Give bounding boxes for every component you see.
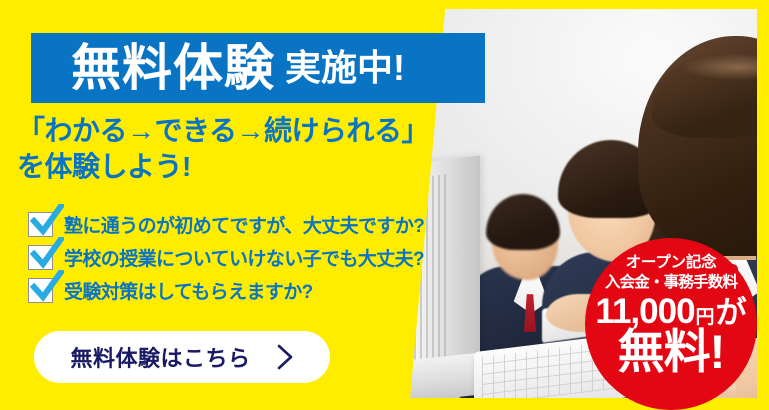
sub-headline: 「わかる→できる→続けられる」 を体験しよう! (17, 113, 437, 185)
badge-yen-unit: 円 (696, 308, 715, 327)
sub-headline-line2: を体験しよう! (17, 149, 437, 185)
sub-headline-line1: 「わかる→できる→続けられる」 (17, 115, 429, 146)
headline-blue-banner-inner: 無料体験 実施中! (31, 33, 485, 103)
check-icon (30, 204, 64, 238)
checklist-item-label: 学校の授業についていけない子でも大丈夫? (64, 244, 424, 271)
check-icon (30, 237, 64, 271)
badge-amount: 11,000 (595, 294, 694, 329)
list-item: 学校の授業についていけない子でも大丈夫? (28, 242, 428, 273)
checklist-item-label: 塾に通うのが初めてですが、大丈夫ですか? (64, 211, 424, 238)
headline-blue-banner: 無料体験 実施中! (31, 33, 485, 103)
badge-particle: が (716, 297, 747, 328)
free-trial-promo-banner: 無料体験 実施中! 「わかる→できる→続けられる」 を体験しよう! 塾に通うのが… (0, 0, 769, 410)
campaign-badge: オープン記念 入会金・事務手数料 11,000 円 が 無料! (585, 238, 757, 410)
checklist-item-label: 受験対策はしてもらえますか? (64, 277, 313, 304)
badge-line-4: 無料! (585, 328, 757, 375)
yellow-right-border (757, 0, 769, 410)
badge-price-row: 11,000 円 が (585, 294, 757, 329)
checkbox-icon (28, 212, 53, 237)
checkbox-icon (28, 245, 53, 270)
checkbox-icon (28, 278, 53, 303)
chevron-right-icon (277, 344, 294, 370)
check-icon (30, 270, 64, 304)
cta-button-label: 無料体験はこちら (70, 341, 250, 373)
list-item: 受験対策はしてもらえますか? (28, 275, 428, 306)
free-trial-cta-button[interactable]: 無料体験はこちら (34, 331, 330, 383)
badge-line-2: 入会金・事務手数料 (585, 275, 757, 291)
headline-main-text: 無料体験 (71, 43, 275, 93)
faq-checklist: 塾に通うのが初めてですが、大丈夫ですか? 学校の授業についていけない子でも大丈夫… (28, 209, 428, 308)
yellow-top-border (0, 0, 769, 9)
list-item: 塾に通うのが初めてですが、大丈夫ですか? (28, 209, 428, 240)
headline-sub-text: 実施中! (285, 50, 405, 86)
